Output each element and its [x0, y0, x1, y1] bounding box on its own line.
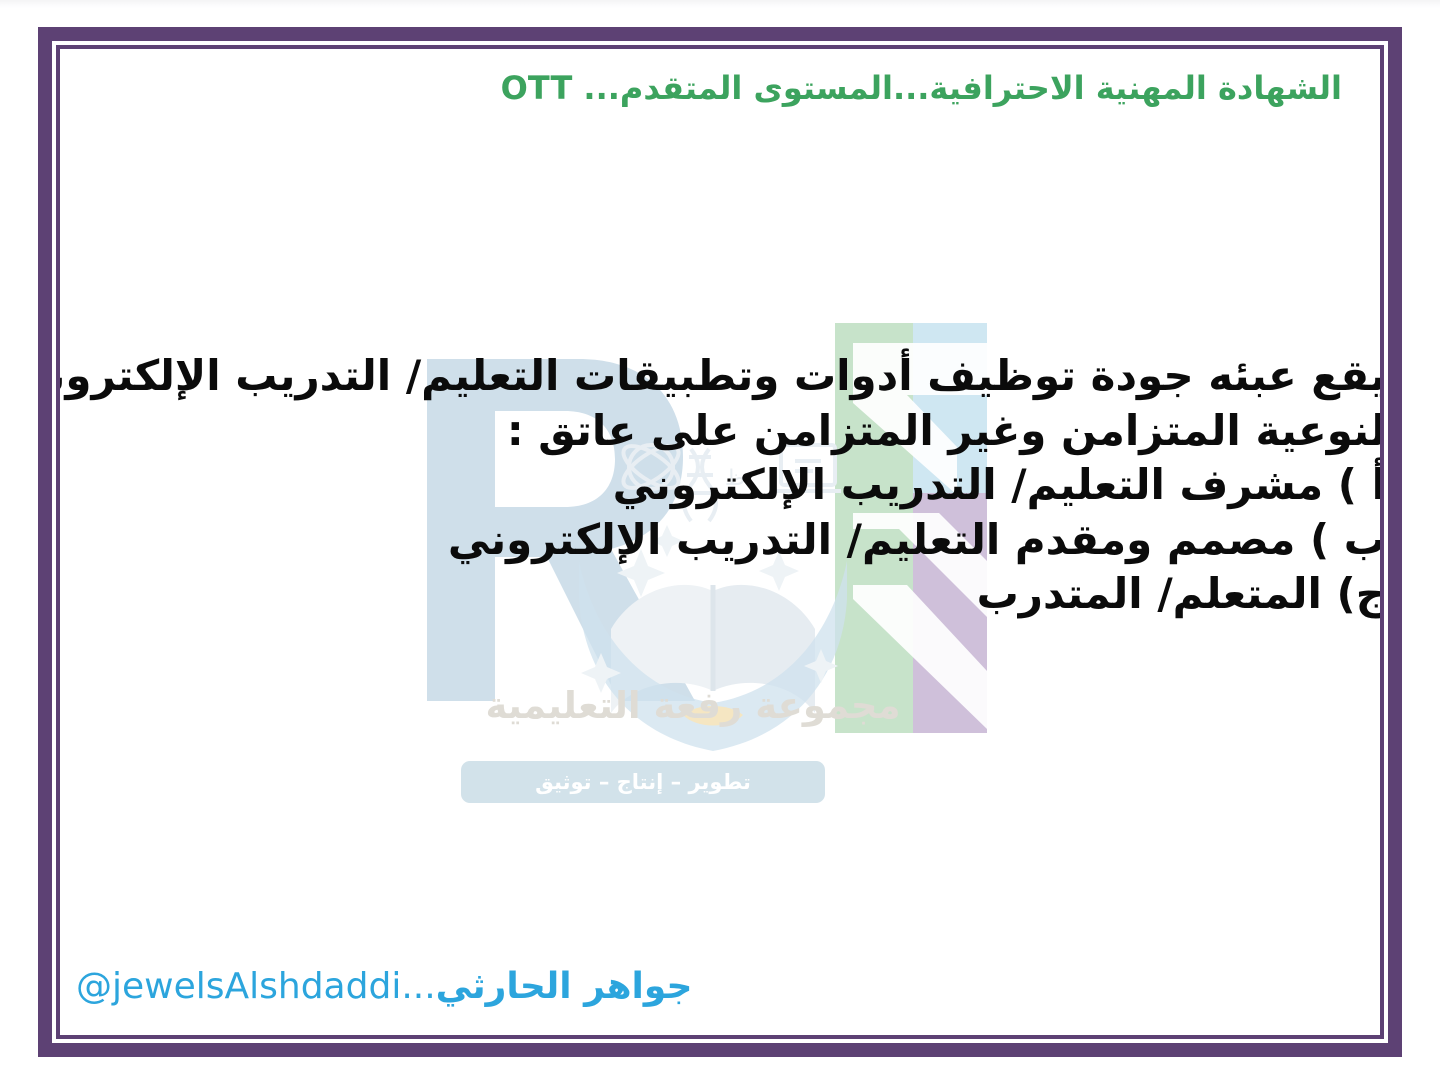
body-option-b: ب ) مصمم ومقدم التعليم/ التدريب الإلكترو…: [60, 513, 1380, 568]
author-credit: @jewelsAlshdaddi...جواهر الحارثي: [76, 966, 692, 1007]
slide-header-text: الشهادة المهنية الاحترافية...المستوى الم…: [92, 69, 1342, 107]
slide-top-edge-strip: [0, 0, 1440, 8]
watermark-group-name: مجموعة رفعة التعليمية: [413, 684, 973, 727]
body-line-2: لنوعية المتزامن وغير المتزامن على عاتق :: [60, 404, 1380, 459]
slide-content-area: ظ مجموعة رفعة التعليمية تطوير – إنتاج – …: [60, 49, 1380, 1035]
body-line-1: يقع عبئه جودة توظيف أدوات وتطبيقات التعل…: [60, 349, 1380, 404]
watermark-badge: تطوير – إنتاج – توثيق: [461, 761, 825, 803]
slide-body-text: يقع عبئه جودة توظيف أدوات وتطبيقات التعل…: [60, 349, 1380, 622]
body-option-c: ج) المتعلم/ المتدرب: [60, 567, 1380, 622]
slide-canvas: ظ مجموعة رفعة التعليمية تطوير – إنتاج – …: [0, 0, 1440, 1077]
watermark-badge-text: تطوير – إنتاج – توثيق: [535, 770, 751, 794]
body-option-a: أ ) مشرف التعليم/ التدريب الإلكتروني: [60, 458, 1380, 513]
author-handle: @jewelsAlshdaddi...: [76, 966, 436, 1007]
author-name: جواهر الحارثي: [436, 966, 693, 1007]
